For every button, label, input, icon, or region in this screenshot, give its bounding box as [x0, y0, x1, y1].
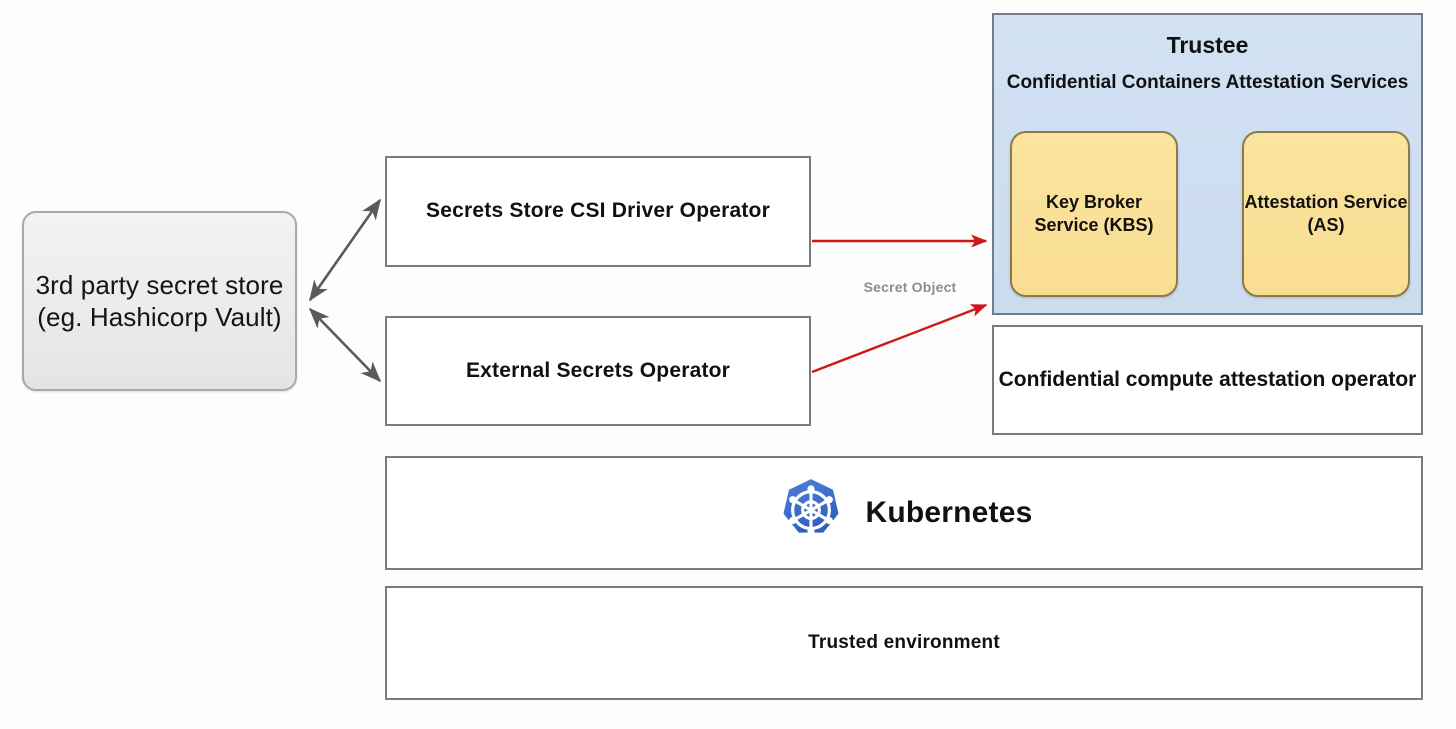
node-trustee[interactable]: Trustee Confidential Containers Attestat… — [992, 13, 1423, 315]
csi-operator-label: Secrets Store CSI Driver Operator — [426, 198, 770, 224]
diagram-canvas: 3rd party secret store (eg. Hashicorp Va… — [0, 0, 1456, 729]
attestation-operator-label: Confidential compute attestation operato… — [999, 366, 1417, 393]
node-secret-store[interactable]: 3rd party secret store (eg. Hashicorp Va… — [22, 211, 297, 391]
node-external-secrets-operator[interactable]: External Secrets Operator — [385, 316, 811, 426]
trustee-title: Trustee — [994, 32, 1421, 59]
node-confidential-compute-attestation-operator[interactable]: Confidential compute attestation operato… — [992, 325, 1423, 435]
node-secrets-store-csi-driver-operator[interactable]: Secrets Store CSI Driver Operator — [385, 156, 811, 267]
kubernetes-logo-icon — [775, 477, 847, 549]
attestation-service-label: Attestation Service (AS) — [1244, 191, 1408, 237]
key-broker-service-label: Key Broker Service (KBS) — [1012, 191, 1176, 237]
edge-eso-to-trustee — [812, 305, 986, 372]
node-trusted-environment[interactable]: Trusted environment — [385, 586, 1423, 700]
edge-store-to-csi — [310, 200, 380, 300]
trusted-environment-label: Trusted environment — [808, 631, 1000, 655]
secret-object-annotation: Secret Object — [840, 279, 980, 295]
external-secrets-operator-label: External Secrets Operator — [466, 358, 730, 384]
trustee-subtitle: Confidential Containers Attestation Serv… — [1006, 71, 1409, 96]
edge-store-to-eso — [310, 309, 380, 381]
kubernetes-label: Kubernetes — [865, 494, 1032, 532]
node-kubernetes[interactable]: Kubernetes — [385, 456, 1423, 570]
node-key-broker-service[interactable]: Key Broker Service (KBS) — [1010, 131, 1178, 297]
secret-store-label: 3rd party secret store (eg. Hashicorp Va… — [24, 269, 295, 334]
node-attestation-service[interactable]: Attestation Service (AS) — [1242, 131, 1410, 297]
